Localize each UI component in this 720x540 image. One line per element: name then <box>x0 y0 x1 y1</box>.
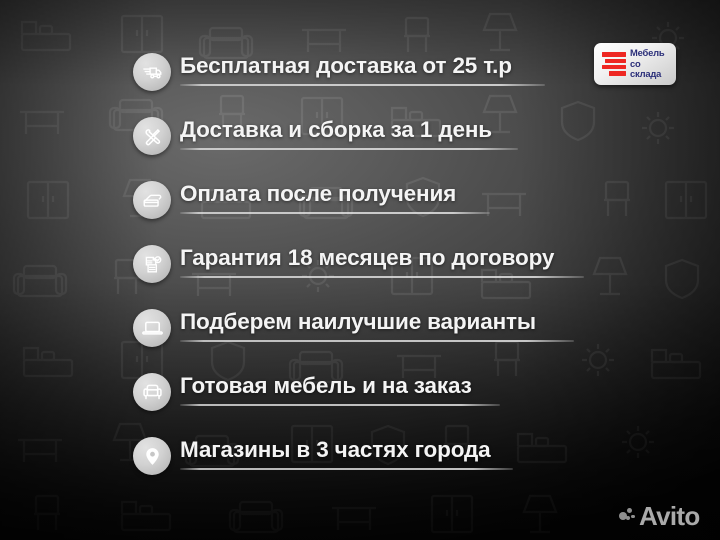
feature-label-wrap: Подберем наилучшие варианты <box>180 308 574 342</box>
avito-wordmark: Avito <box>639 503 700 529</box>
brand-line-3: склада <box>630 69 664 79</box>
feature-label: Магазины в 3 частях города <box>180 436 513 463</box>
feature-item-warranty[interactable]: Гарантия 18 месяцев по договору <box>133 244 653 308</box>
brand-logo[interactable]: Мебель со склада <box>594 43 676 85</box>
feature-item-pay-on-delivery[interactable]: Оплата после получения <box>133 180 653 244</box>
feature-label-wrap: Оплата после получения <box>180 180 490 214</box>
feature-label: Подберем наилучшие варианты <box>180 308 574 335</box>
feature-item-assembly[interactable]: Доставка и сборка за 1 день <box>133 116 653 180</box>
feature-underline <box>180 212 490 214</box>
contract-check-icon <box>133 245 171 283</box>
location-pin-icon <box>133 437 171 475</box>
feature-label: Доставка и сборка за 1 день <box>180 116 518 143</box>
brand-logo-text: Мебель со склада <box>630 48 664 79</box>
feature-item-best-options[interactable]: Подберем наилучшие варианты <box>133 308 653 372</box>
feature-label: Гарантия 18 месяцев по договору <box>180 244 584 271</box>
feature-item-stores[interactable]: Магазины в 3 частях города <box>133 436 653 500</box>
feature-underline <box>180 84 545 86</box>
tools-icon <box>133 117 171 155</box>
feature-label-wrap: Доставка и сборка за 1 день <box>180 116 518 150</box>
feature-label-wrap: Готовая мебель и на заказ <box>180 372 500 406</box>
feature-label-wrap: Магазины в 3 частях города <box>180 436 513 470</box>
feature-underline <box>180 276 584 278</box>
feature-label-wrap: Бесплатная доставка от 25 т.р <box>180 52 545 86</box>
payment-card-icon <box>133 181 171 219</box>
feature-label: Оплата после получения <box>180 180 490 207</box>
feature-list: Бесплатная доставка от 25 т.р Доставка и… <box>133 52 653 500</box>
feature-item-free-delivery[interactable]: Бесплатная доставка от 25 т.р <box>133 52 653 116</box>
avito-dots-icon <box>619 508 636 525</box>
feature-underline <box>180 404 500 406</box>
feature-underline <box>180 468 513 470</box>
feature-label: Бесплатная доставка от 25 т.р <box>180 52 545 79</box>
brand-bars-icon <box>599 52 626 75</box>
laptop-icon <box>133 309 171 347</box>
feature-item-ready-and-custom[interactable]: Готовая мебель и на заказ <box>133 372 653 436</box>
feature-label-wrap: Гарантия 18 месяцев по договору <box>180 244 584 278</box>
armchair-icon <box>133 373 171 411</box>
delivery-truck-icon <box>133 53 171 91</box>
promo-banner: Бесплатная доставка от 25 т.р Доставка и… <box>0 0 720 540</box>
avito-watermark: Avito <box>619 503 700 529</box>
feature-underline <box>180 148 518 150</box>
feature-underline <box>180 340 574 342</box>
feature-label: Готовая мебель и на заказ <box>180 372 500 399</box>
